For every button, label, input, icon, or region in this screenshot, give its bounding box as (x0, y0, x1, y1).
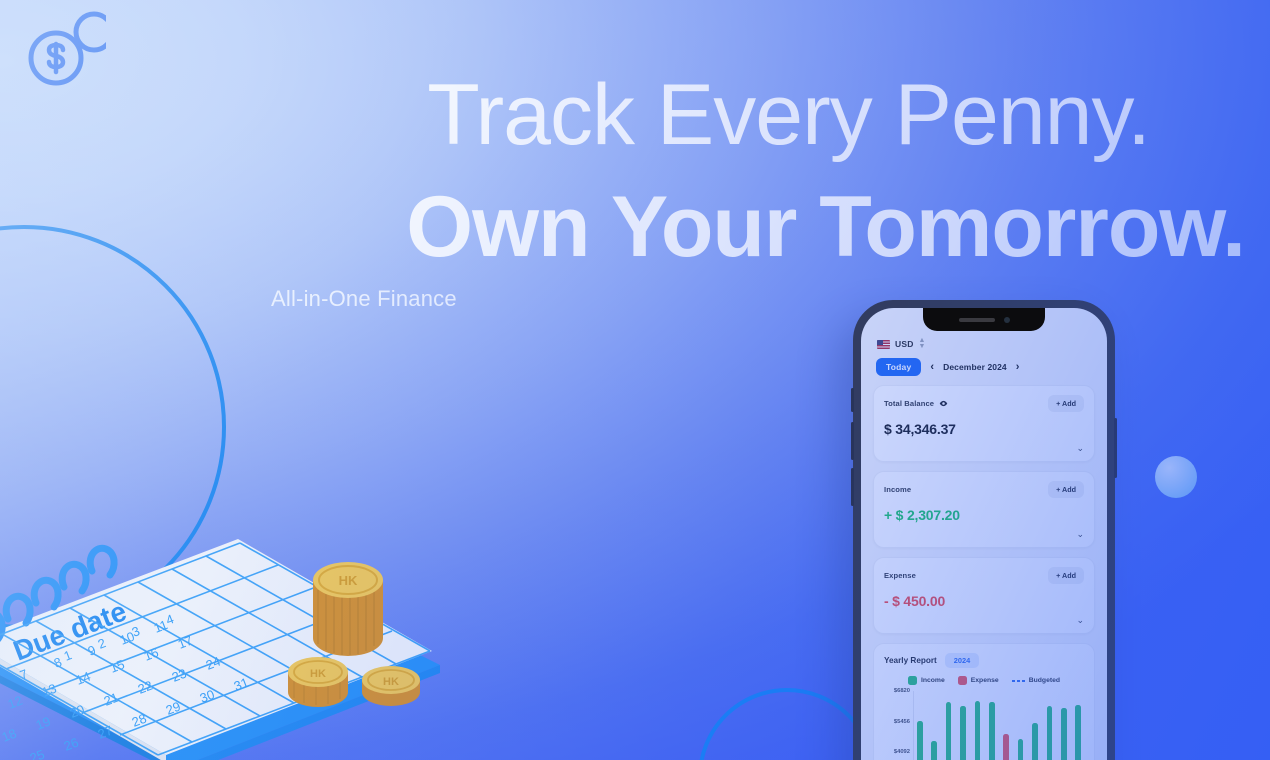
legend-item-budgeted: Budgeted (1012, 677, 1060, 684)
phone-power-button[interactable] (1114, 418, 1117, 478)
legend-label: Income (921, 677, 945, 684)
phone-volume-down-button[interactable] (851, 468, 854, 506)
chart-bar-income (960, 706, 966, 760)
chart-bar-income (1047, 706, 1053, 760)
phone-notch (923, 308, 1045, 331)
date-navigation: Today ‹ December 2024 › (873, 358, 1095, 376)
legend-label: Expense (971, 677, 999, 684)
chart-bar-income (975, 701, 981, 760)
chart-bars (913, 691, 1084, 760)
expense-card: Expense + Add - $ 450.00 ⌄ (873, 557, 1095, 634)
legend-item-expense: Expense (958, 676, 999, 685)
card-title: Total Balance (884, 399, 948, 408)
card-header: Expense + Add (884, 567, 1084, 584)
color-swatch (908, 676, 917, 685)
y-axis-tick: $4092 (894, 749, 910, 755)
svg-text:12: 12 (6, 693, 25, 712)
card-header: Income + Add (884, 481, 1084, 498)
svg-text:26: 26 (62, 735, 81, 754)
chart-bar-income (931, 741, 937, 760)
headline-line-1: Track Every Penny. (0, 72, 1150, 158)
income-label: Income (884, 485, 911, 494)
chevron-down-icon[interactable]: ⌄ (884, 444, 1084, 453)
sub-headline: All-in-One Finance (271, 286, 457, 312)
coin-symbol: HK (339, 573, 358, 588)
front-camera-icon (1004, 317, 1010, 323)
y-axis-tick: $6820 (894, 688, 910, 694)
add-balance-button[interactable]: + Add (1048, 395, 1084, 412)
us-flag-icon (877, 340, 890, 349)
chart-bar-income (1061, 708, 1067, 760)
chevron-updown-icon: ▲▼ (919, 338, 926, 349)
income-amount: + $ 2,307.20 (884, 507, 1084, 523)
chart-bar-expense (1003, 734, 1009, 760)
year-badge[interactable]: 2024 (945, 653, 979, 668)
decorative-ring-bottom (698, 688, 876, 760)
total-balance-label: Total Balance (884, 399, 934, 408)
chevron-down-icon[interactable]: ⌄ (884, 530, 1084, 539)
y-axis-tick: $5456 (894, 719, 910, 725)
color-swatch (958, 676, 967, 685)
earpiece-speaker (959, 318, 995, 322)
phone-mute-switch[interactable] (851, 388, 854, 412)
expense-amount: - $ 450.00 (884, 593, 1084, 609)
card-header: Total Balance + Add (884, 395, 1084, 412)
yearly-report-chart: $6820$5456$4092 (884, 691, 1084, 760)
report-title: Yearly Report (884, 656, 937, 665)
chevron-down-icon[interactable]: ⌄ (884, 616, 1084, 625)
hero-background: Track Every Penny. Own Your Tomorrow. Al… (0, 0, 1270, 760)
report-header: Yearly Report 2024 (884, 653, 1084, 668)
chart-legend: IncomeExpenseBudgeted (884, 676, 1084, 685)
chart-bar-income (917, 721, 923, 760)
decorative-sphere (1155, 456, 1197, 498)
total-balance-card: Total Balance + Add $ 34,346.37 ⌄ (873, 385, 1095, 462)
svg-text:25: 25 (28, 747, 47, 760)
legend-label: Budgeted (1029, 677, 1060, 684)
chevron-right-icon[interactable]: › (1016, 362, 1020, 373)
dashed-line-swatch (1012, 680, 1025, 682)
legend-item-income: Income (908, 676, 945, 685)
headline-line-2: Own Your Tomorrow. (0, 184, 1245, 270)
total-balance-amount: $ 34,346.37 (884, 421, 1084, 437)
phone-volume-up-button[interactable] (851, 422, 854, 460)
chevron-left-icon[interactable]: ‹ (930, 362, 934, 373)
coin-stack-illustration: HK HK HK (280, 540, 470, 720)
chart-y-axis: $6820$5456$4092 (884, 691, 913, 760)
expense-label: Expense (884, 571, 916, 580)
yearly-report-card: Yearly Report 2024 IncomeExpenseBudgeted… (873, 643, 1095, 760)
currency-label: USD (895, 339, 914, 349)
add-expense-button[interactable]: + Add (1048, 567, 1084, 584)
svg-text:HK: HK (383, 676, 399, 688)
chart-bar-income (1032, 723, 1038, 760)
income-card: Income + Add + $ 2,307.20 ⌄ (873, 471, 1095, 548)
svg-text:18: 18 (0, 726, 19, 745)
phone-screen: USD ▲▼ Today ‹ December 2024 › Total Bal… (861, 308, 1107, 760)
eye-icon[interactable] (939, 399, 948, 408)
svg-text:HK: HK (310, 668, 326, 680)
chart-bar-income (1075, 705, 1081, 760)
svg-text:19: 19 (34, 714, 53, 733)
currency-selector[interactable]: USD ▲▼ (873, 334, 1095, 352)
chart-bar-income (1018, 739, 1024, 760)
phone-mockup: USD ▲▼ Today ‹ December 2024 › Total Bal… (853, 300, 1115, 760)
chart-bar-income (989, 702, 995, 760)
month-label: December 2024 (943, 362, 1007, 372)
app-screen: USD ▲▼ Today ‹ December 2024 › Total Bal… (861, 308, 1107, 760)
today-button[interactable]: Today (876, 358, 921, 376)
chart-bar-income (946, 702, 952, 760)
add-income-button[interactable]: + Add (1048, 481, 1084, 498)
